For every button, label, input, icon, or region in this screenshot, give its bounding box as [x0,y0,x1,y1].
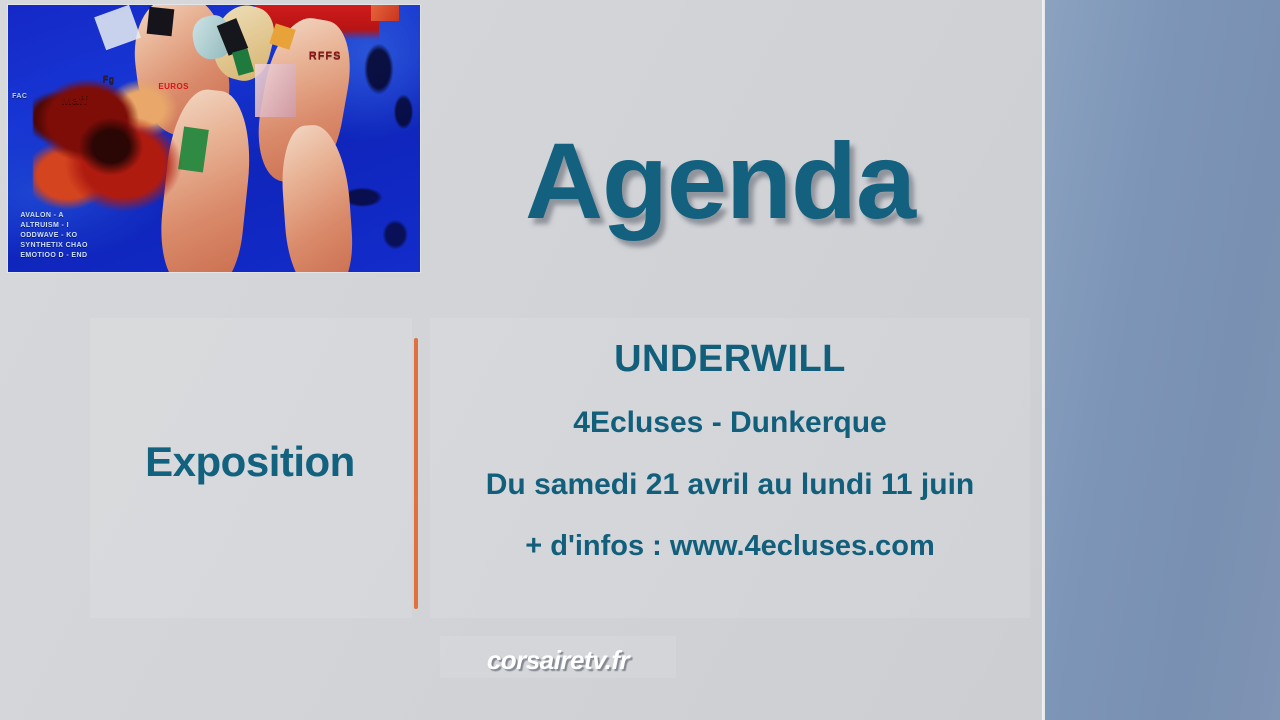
vertical-divider [414,338,418,609]
event-details: UNDERWILL 4Ecluses - Dunkerque Du samedi… [430,338,1030,563]
artwork-text-euro: EUROS [158,82,188,91]
artwork-collage-patch [147,6,174,35]
artwork-collage-patch [255,64,296,117]
artwork-text-fg: Fg [103,74,115,84]
event-dates: Du samedi 21 avril au lundi 11 juin [430,468,1030,502]
broadcast-slate: AVALON - A ALTRUISM - I ODDWAVE - KO SYN… [0,0,1280,720]
channel-logo-panel: TV Corsaire [1045,0,1280,720]
artwork-text-maff: Maff [62,93,88,107]
page-title: Agenda [430,127,1010,235]
artwork-red-accent [371,5,400,21]
artwork-text-list: AVALON - A ALTRUISM - I ODDWAVE - KO SYN… [20,211,87,261]
event-name: UNDERWILL [430,338,1030,381]
event-category-label: Exposition [90,438,410,486]
artwork-text-rffs: RFFS [309,50,342,62]
event-artwork-image: AVALON - A ALTRUISM - I ODDWAVE - KO SYN… [8,5,420,272]
event-venue: 4Ecluses - Dunkerque [430,406,1030,440]
artwork-text-fac: FAC [12,93,27,100]
artwork-dark-splash [66,106,157,186]
website-wordmark: corsairetv.fr [440,645,676,676]
event-more-info: + d'infos : www.4ecluses.com [430,530,1030,563]
